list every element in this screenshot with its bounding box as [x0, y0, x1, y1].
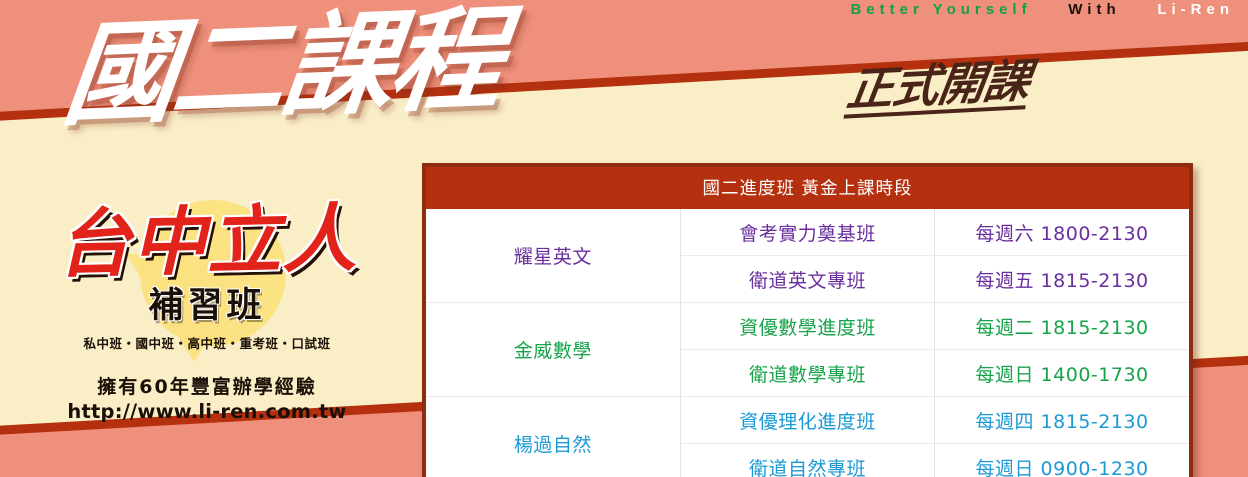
subject-cell: 楊過自然 — [426, 397, 680, 477]
time-cell: 每週四 1815-2130 — [935, 397, 1189, 444]
logo-website-url: http://www.li-ren.com.tw — [22, 400, 392, 423]
banner-root: Better Yourself With Li-Ren 國二課程 正式開課 台中… — [0, 0, 1248, 477]
table-row: 耀星英文會考實力奠基班每週六 1800-2130 — [426, 209, 1189, 256]
time-cell: 每週五 1815-2130 — [935, 256, 1189, 303]
logo-block: 台中立人 補習班 私中班・國中班・高中班・重考班・口試班 擁有60年豐富辦學經驗… — [22, 196, 392, 423]
table-row: 金威數學資優數學進度班每週二 1815-2130 — [426, 303, 1189, 350]
time-cell: 每週日 0900-1230 — [935, 444, 1189, 477]
schedule-table-head: 國二進度班 黃金上課時段 — [426, 167, 1189, 209]
logo-brand-name: 台中立人 — [21, 202, 392, 282]
tagline: Better Yourself With Li-Ren — [850, 1, 1234, 18]
tagline-part-with: With — [1068, 1, 1120, 18]
course-cell: 會考實力奠基班 — [680, 209, 934, 256]
course-cell: 衛道英文專班 — [680, 256, 934, 303]
logo-class-list: 私中班・國中班・高中班・重考班・口試班 — [22, 333, 392, 352]
schedule-header-title: 國二進度班 黃金上課時段 — [426, 167, 1189, 209]
schedule-table-body: 耀星英文會考實力奠基班每週六 1800-2130衛道英文專班每週五 1815-2… — [426, 209, 1189, 477]
course-cell: 衛道數學專班 — [680, 350, 934, 397]
table-row: 楊過自然資優理化進度班每週四 1815-2130 — [426, 397, 1189, 444]
schedule-table: 國二進度班 黃金上課時段 耀星英文會考實力奠基班每週六 1800-2130衛道英… — [426, 167, 1189, 477]
subject-cell: 金威數學 — [426, 303, 680, 397]
time-cell: 每週二 1815-2130 — [935, 303, 1189, 350]
tagline-part-li-ren: Li-Ren — [1157, 1, 1234, 18]
tagline-part-better-yourself: Better Yourself — [850, 1, 1031, 18]
course-cell: 衛道自然專班 — [680, 444, 934, 477]
time-cell: 每週日 1400-1730 — [935, 350, 1189, 397]
course-cell: 資優數學進度班 — [680, 303, 934, 350]
schedule-table-card: 國二進度班 黃金上課時段 耀星英文會考實力奠基班每週六 1800-2130衛道英… — [422, 163, 1193, 477]
headline-title: 國二課程 — [58, 3, 506, 132]
subject-cell: 耀星英文 — [426, 209, 680, 303]
time-cell: 每週六 1800-2130 — [935, 209, 1189, 256]
schedule-header-row: 國二進度班 黃金上課時段 — [426, 167, 1189, 209]
headline-subtitle: 正式開課 — [844, 57, 1033, 118]
logo-experience: 擁有60年豐富辦學經驗 — [22, 372, 392, 399]
course-cell: 資優理化進度班 — [680, 397, 934, 444]
